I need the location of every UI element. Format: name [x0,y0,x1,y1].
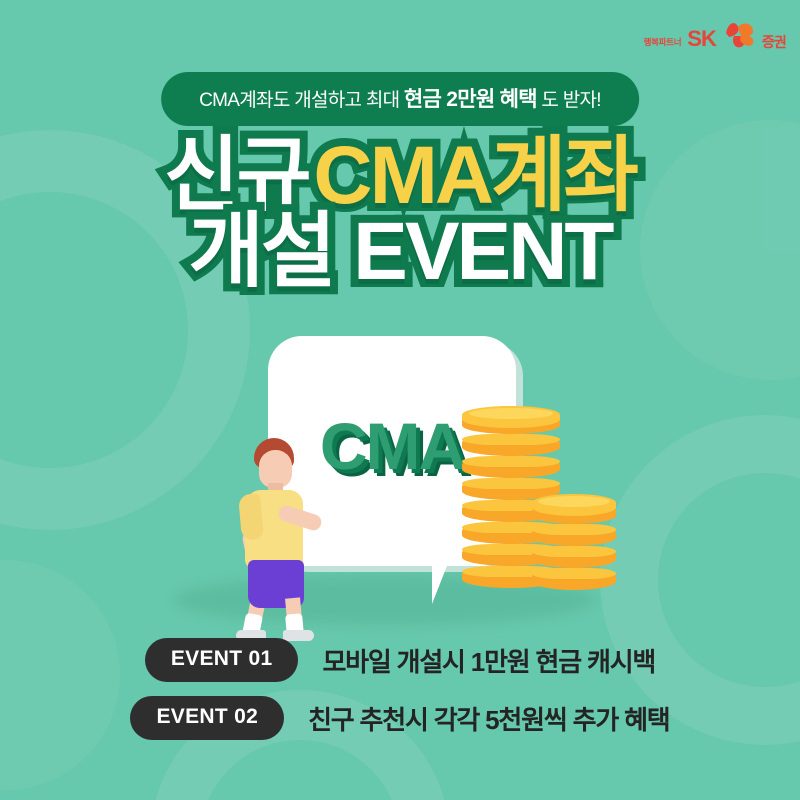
title-word-gaeseol-event: 개설 EVENT [188,212,611,292]
event-description-02: 친구 추천시 각각 5천원씩 추가 혜택 [308,700,669,737]
gold-coin-stack-short-icon [532,490,616,590]
headline-lead-text: CMA계좌도 개설하고 최대 [199,90,399,111]
event-row: EVENT 01 모바일 개설시 1만원 현금 캐시백 [0,638,800,682]
title-line-1: 신규 CMA계좌 [0,136,800,216]
walking-person-icon [228,438,340,630]
event-badge-02: EVENT 02 [130,696,284,740]
event-description-01: 모바일 개설시 1만원 현금 캐시백 [322,642,655,679]
logo-tagline: 행복파트너 [644,36,682,50]
logo-brand-text: SK [687,28,716,50]
title-word-cma-account: CMA계좌 [313,136,636,216]
event-row: EVENT 02 친구 추천시 각각 5천원씩 추가 혜택 [0,696,800,740]
headline-emphasis-text: 현금 2만원 혜택 [404,88,537,111]
logo-division-text: 증권 [762,35,786,50]
headline-pill: CMA계좌도 개설하고 최대 현금 2만원 혜택 도 받자! [161,72,639,126]
headline-trail-text: 도 받자! [541,90,601,111]
page-title: 신규 CMA계좌 개설 EVENT [0,136,800,293]
promo-banner: 행복파트너 SK 증권 CMA계좌도 개설하고 최대 현금 2만원 혜택 도 받… [0,0,800,800]
title-line-2: 개설 EVENT [0,212,800,292]
sk-butterfly-wings-icon [722,20,756,50]
brand-logo: 행복파트너 SK 증권 [644,20,786,50]
person-sleeve [238,493,264,541]
illustration: CMA [0,330,800,630]
event-badge-01: EVENT 01 [145,638,299,682]
event-list: EVENT 01 모바일 개설시 1만원 현금 캐시백 EVENT 02 친구 … [0,638,800,754]
title-word-singyu: 신규 [164,136,309,216]
